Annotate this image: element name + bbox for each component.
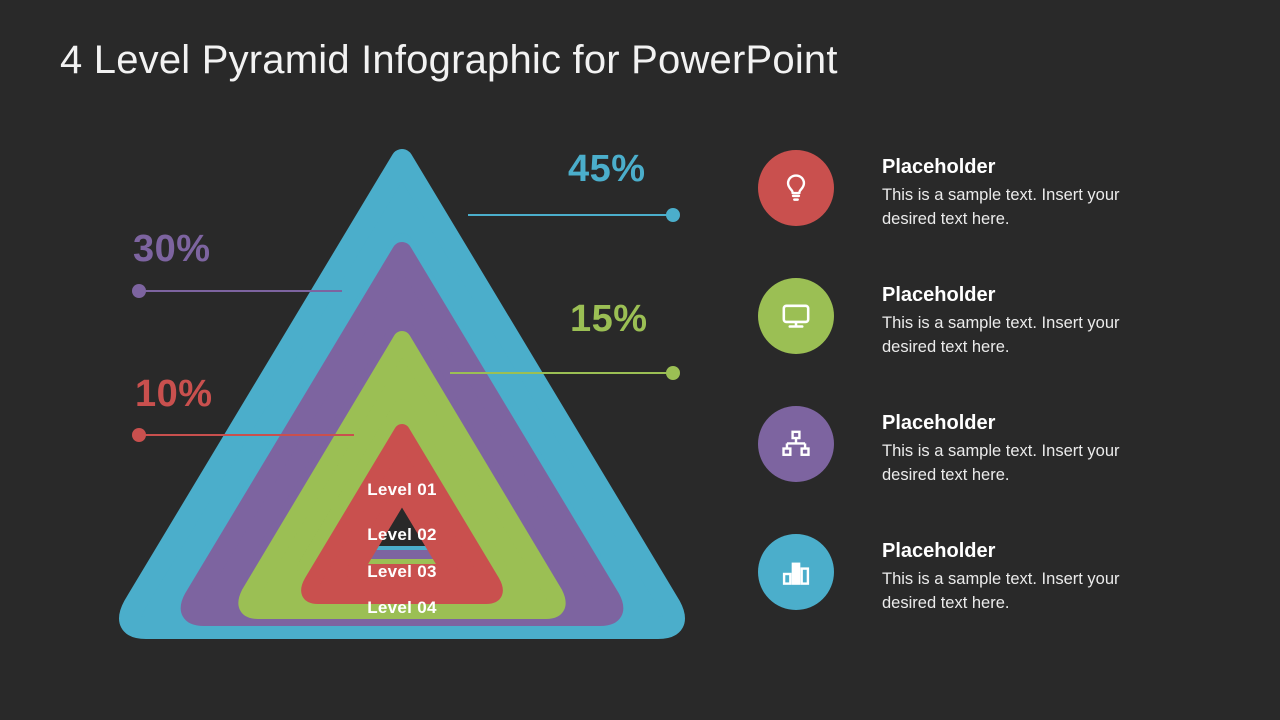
detail-item-1-text: Placeholder This is a sample text. Inser…	[882, 156, 1132, 232]
connector-dot-level-01	[132, 428, 146, 442]
callout-percent-level-04: 45%	[568, 148, 646, 191]
detail-item-1[interactable]: Placeholder This is a sample text. Inser…	[758, 150, 1228, 278]
pyramid-level-03-label: Level 03	[282, 562, 522, 582]
bar-chart-icon	[779, 555, 813, 589]
detail-item-2-text: Placeholder This is a sample text. Inser…	[882, 284, 1132, 360]
connector-dot-level-02	[666, 366, 680, 380]
detail-item-2[interactable]: Placeholder This is a sample text. Inser…	[758, 278, 1228, 406]
monitor-icon	[779, 299, 813, 333]
pyramid-level-01-label: Level 01	[282, 480, 522, 500]
hierarchy-icon	[779, 427, 813, 461]
connector-dot-level-04	[666, 208, 680, 222]
detail-item-1-icon-badge[interactable]	[758, 150, 834, 226]
callout-percent-level-03: 30%	[133, 228, 211, 271]
detail-item-2-heading: Placeholder	[882, 284, 1132, 306]
slide-canvas: 4 Level Pyramid Infographic for PowerPoi…	[0, 0, 1280, 720]
detail-item-2-icon-badge[interactable]	[758, 278, 834, 354]
detail-item-4-text: Placeholder This is a sample text. Inser…	[882, 540, 1132, 616]
detail-item-3[interactable]: Placeholder This is a sample text. Inser…	[758, 406, 1228, 534]
detail-item-4[interactable]: Placeholder This is a sample text. Inser…	[758, 534, 1228, 662]
detail-list: Placeholder This is a sample text. Inser…	[758, 150, 1228, 662]
callout-percent-level-02: 15%	[570, 298, 648, 341]
pyramid-level-04-label: Level 04	[282, 598, 522, 618]
detail-item-2-body: This is a sample text. Insert your desir…	[882, 312, 1132, 360]
connector-dot-level-03	[132, 284, 146, 298]
detail-item-1-heading: Placeholder	[882, 156, 1132, 178]
detail-item-1-body: This is a sample text. Insert your desir…	[882, 184, 1132, 232]
detail-item-4-icon-badge[interactable]	[758, 534, 834, 610]
page-title: 4 Level Pyramid Infographic for PowerPoi…	[60, 38, 838, 83]
detail-item-4-body: This is a sample text. Insert your desir…	[882, 568, 1132, 616]
detail-item-4-heading: Placeholder	[882, 540, 1132, 562]
detail-item-3-heading: Placeholder	[882, 412, 1132, 434]
detail-item-3-icon-badge[interactable]	[758, 406, 834, 482]
detail-item-3-text: Placeholder This is a sample text. Inser…	[882, 412, 1132, 488]
callout-percent-level-01: 10%	[135, 373, 213, 416]
detail-item-3-body: This is a sample text. Insert your desir…	[882, 440, 1132, 488]
lightbulb-icon	[779, 171, 813, 205]
pyramid-level-02-label: Level 02	[282, 525, 522, 545]
